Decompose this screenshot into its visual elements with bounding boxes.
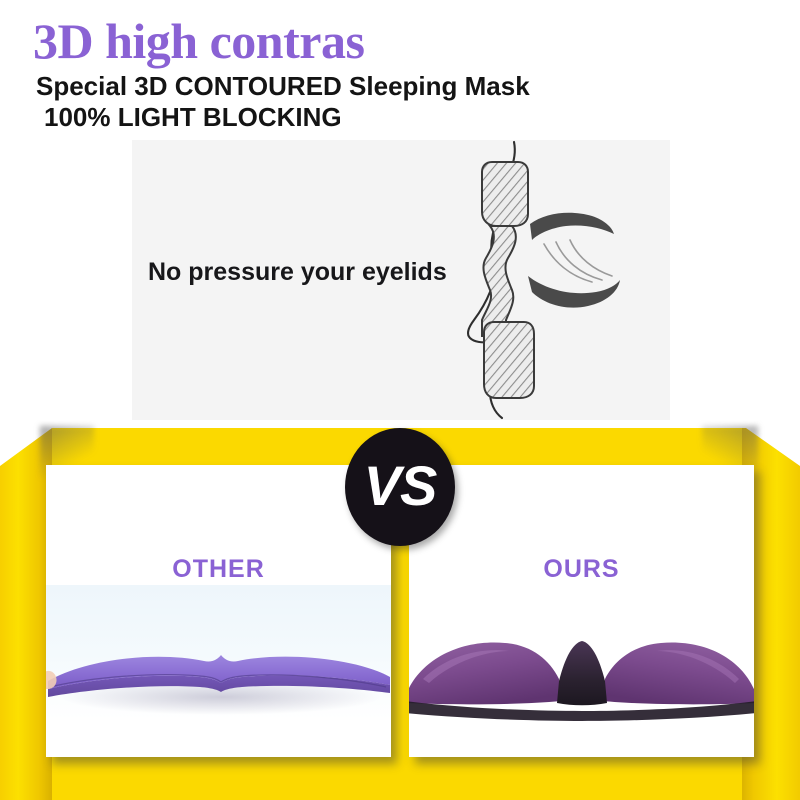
product-marketing-image: 3D high contras Special 3D CONTOURED Sle…: [0, 0, 800, 800]
subtitle-line-2: 100% LIGHT BLOCKING: [44, 104, 342, 130]
mask-lower-pad: [484, 322, 534, 398]
eyebrow-shape: [530, 213, 614, 240]
vs-badge: VS: [345, 428, 455, 546]
closed-eye-lash-shape: [528, 276, 620, 308]
mask-nose-bridge: [557, 641, 607, 705]
face-profile-with-mask-icon: [452, 140, 670, 421]
card-label-ours: OURS: [409, 555, 754, 584]
flat-purple-mask-illustration: [46, 585, 391, 757]
page-title: 3D high contras: [33, 16, 364, 66]
subtitle-line-1: Special 3D CONTOURED Sleeping Mask: [36, 73, 530, 99]
mask-upper-pad: [482, 162, 528, 226]
product-photo-other: [46, 585, 391, 757]
comparison-card-ours: OURS: [409, 465, 754, 757]
product-photo-ours: [409, 585, 754, 757]
contoured-3d-mask-illustration: [409, 585, 754, 757]
card-label-other: OTHER: [46, 555, 391, 584]
comparison-card-other: OTHER: [46, 465, 391, 757]
header-section: 3D high contras Special 3D CONTOURED Sle…: [0, 0, 800, 140]
vs-label: VS: [364, 458, 437, 514]
mask-nose-contour: [482, 226, 516, 336]
illustration-caption: No pressure your eyelids: [148, 258, 447, 287]
illustration-panel: No pressure your eyelids: [132, 140, 670, 421]
